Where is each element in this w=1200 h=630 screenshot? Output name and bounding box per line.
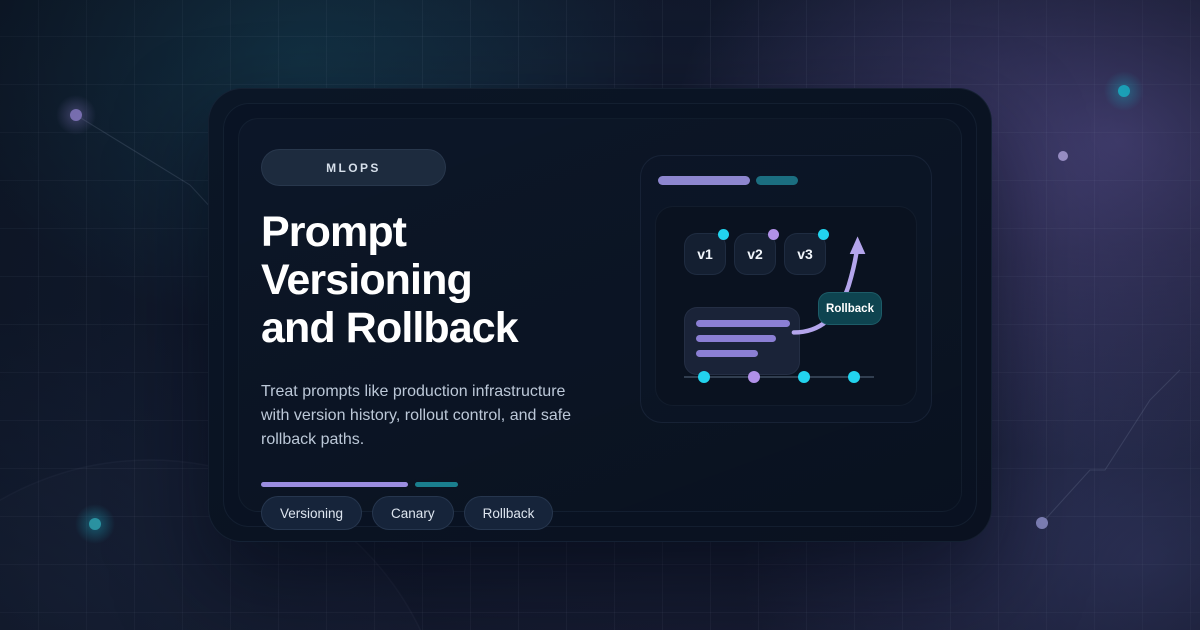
title-line-2: Versioning [261,256,639,304]
hero-card-inner: MLOPS Prompt Versioning and Rollback Tre… [238,118,962,512]
hero-left-column: MLOPS Prompt Versioning and Rollback Tre… [239,119,639,511]
illustration-panel-inner: v1 v2 v3 [655,206,917,406]
panel-header-bars [658,176,798,185]
tag-pill-canary-label: Canary [391,506,435,521]
tag-pill-rollback-label: Rollback [483,506,535,521]
accent-bar-secondary [415,482,458,487]
accent-bar-primary [261,482,408,487]
hero-card: MLOPS Prompt Versioning and Rollback Tre… [208,88,992,542]
tag-pill-versioning[interactable]: Versioning [261,496,362,530]
tag-pill-rollback[interactable]: Rollback [464,496,554,530]
illustration-panel: v1 v2 v3 [640,155,932,423]
category-badge: MLOPS [261,149,446,186]
tag-pill-versioning-label: Versioning [280,506,343,521]
tag-pill-group: Versioning Canary Rollback [261,496,639,530]
page-subtitle: Treat prompts like production infrastruc… [261,380,591,452]
hero-right-column: v1 v2 v3 [639,119,961,511]
panel-header-bar-primary [658,176,750,185]
rollback-badge-label: Rollback [826,303,874,315]
title-line-1: Prompt [261,208,639,256]
tag-pill-canary[interactable]: Canary [372,496,454,530]
hero-card-middle-frame: MLOPS Prompt Versioning and Rollback Tre… [223,103,977,527]
accent-bar-group [261,482,639,487]
category-badge-label: MLOPS [326,161,381,175]
panel-header-bar-secondary [756,176,798,185]
page-title: Prompt Versioning and Rollback [261,208,639,352]
title-line-3: and Rollback [261,304,639,352]
rollback-badge[interactable]: Rollback [818,292,882,325]
